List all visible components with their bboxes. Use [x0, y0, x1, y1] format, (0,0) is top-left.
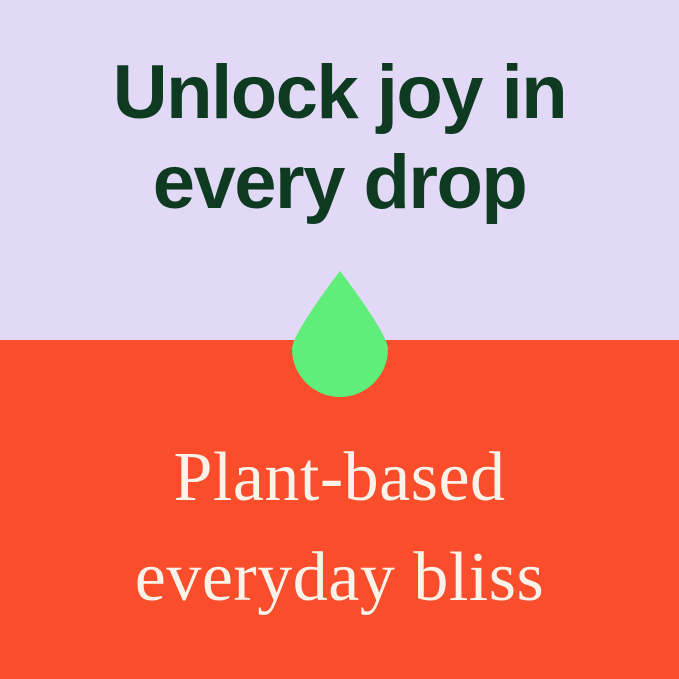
subhead-line-2: everyday bliss [0, 528, 679, 628]
headline: Unlock joy in every drop [0, 48, 679, 228]
subhead: Plant-based everyday bliss [0, 428, 679, 628]
droplet-path [292, 271, 388, 397]
water-droplet-icon [292, 271, 388, 397]
promo-poster: Unlock joy in every drop Plant-based eve… [0, 0, 679, 679]
subhead-line-1: Plant-based [0, 428, 679, 528]
headline-line-1: Unlock joy in [0, 48, 679, 138]
headline-line-2: every drop [0, 138, 679, 228]
